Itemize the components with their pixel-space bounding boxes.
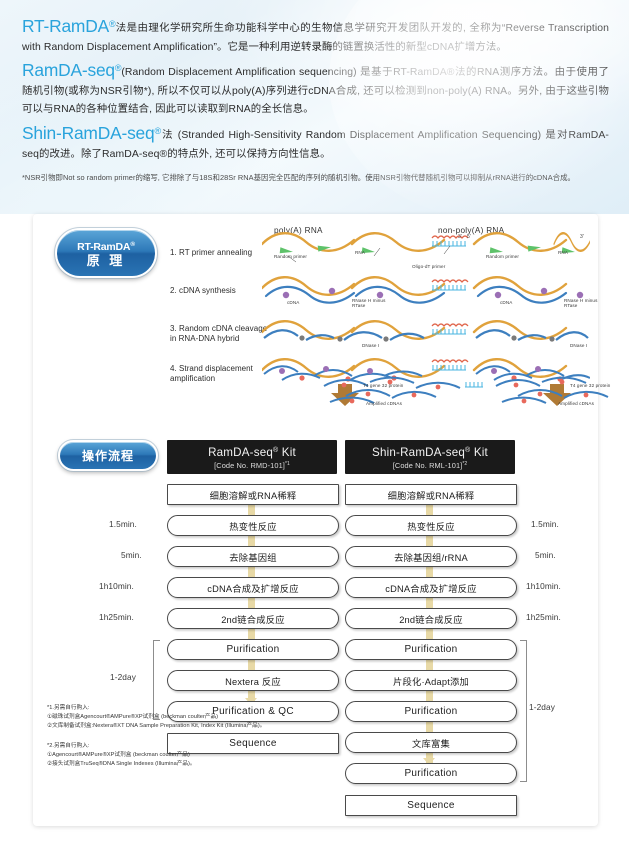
caption-random-primer-left: Random primer [274, 254, 307, 259]
time-label-right-3: 1h10min. [526, 581, 561, 591]
footnote-2-item-2: ②接头试剂盒TruSeq®DNA Single Indexes (Illumin… [47, 760, 196, 769]
flow-left-node-5[interactable]: 2nd链合成反应 [167, 608, 339, 629]
caption-amplified-left: Amplified cDNAs [366, 401, 402, 406]
flow-right-node-3[interactable]: 去除基因组/rRNA [345, 546, 517, 567]
kit-header-shin-code: [Code No. RML-101]*2 [393, 460, 468, 470]
connector-spine-right [426, 498, 433, 764]
diagram-step-1: 1. RT primer annealing [170, 248, 252, 258]
intro-footnote-nsr: *NSR引物即Not so random primer的缩写, 它排除了与18S… [22, 172, 609, 183]
footnote-2-header: *2.另需自行购入: [47, 742, 89, 751]
footnote-1-item-1: ①磁珠试剂盒Agencourt®AMPure®XP试剂盒 (beckman co… [47, 713, 218, 722]
svg-text:3': 3' [580, 234, 584, 240]
svg-text:5': 5' [467, 234, 471, 240]
badge-principle-line1: RT-RamDA® [77, 239, 135, 253]
kit-header-ramda: RamDA-seq® Kit [Code No. RMD-101]*1 [167, 440, 337, 474]
kit-header-shin-title: Shin-RamDA-seq® Kit [372, 444, 488, 460]
time-label-left-1: 1.5min. [109, 519, 137, 529]
diagram-step-4-line2: amplification [170, 374, 215, 384]
diagram-step-3-line1: 3. Random cDNA cleavage [170, 324, 267, 334]
time-label-left-4: 1h25min. [99, 612, 134, 622]
flow-right-node-5[interactable]: 2nd链合成反应 [345, 608, 517, 629]
badge-principle: RT-RamDA® 原 理 [55, 228, 157, 278]
flow-left-node-3[interactable]: 去除基因组 [167, 546, 339, 567]
term-rt-ramda: RT-RamDA® [22, 16, 115, 36]
caption-dnase-right: DNase I [570, 343, 587, 348]
caption-t4-left: T4 gene 32 protein [363, 383, 403, 388]
caption-t4-right: T4 gene 32 protein [570, 383, 610, 388]
principle-diagram: poly(A) RNA non-poly(A) RNA 1. RT primer… [170, 228, 590, 408]
flow-left-node-4[interactable]: cDNA合成及扩增反应 [167, 577, 339, 598]
time-label-left-5: 1-2day [110, 672, 136, 682]
kit-header-shin-ramda: Shin-RamDA-seq® Kit [Code No. RML-101]*2 [345, 440, 515, 474]
kit-header-ramda-title: RamDA-seq® Kit [208, 444, 296, 460]
flow-right-node-1[interactable]: 细胞溶解或RNA稀释 [345, 484, 517, 505]
footnote-1-header: *1.另需自行购入: [47, 704, 89, 713]
caption-amplified-right: Amplified cDNAs [558, 401, 594, 406]
flow-right-node-7[interactable]: 片段化·Adapt添加 [345, 670, 517, 691]
intro-paragraph-2: RamDA-seq®(Random Displacement Amplifica… [22, 60, 609, 120]
flow-right-node-8[interactable]: Purification [345, 701, 517, 722]
flow-right-node-2[interactable]: 热变性反应 [345, 515, 517, 536]
svg-text:3': 3' [458, 234, 462, 240]
bracket-left-group [153, 640, 160, 720]
caption-rnaseh-left-2: RTase [352, 303, 365, 308]
kit-header-ramda-code: [Code No. RMD-101]*1 [214, 460, 290, 470]
caption-cdna-right: cDNA [500, 300, 512, 305]
caption-rnaseh-right-2: RTase [564, 303, 577, 308]
time-label-right-1: 1.5min. [531, 519, 559, 529]
diagram-step-2: 2. cDNA synthesis [170, 286, 236, 296]
footnote-1-item-2: ②文库制备试剂盒:Nextera®XT DNA Sample Preparati… [47, 722, 265, 731]
caption-cdna-left: cDNA [287, 300, 299, 305]
caption-rna-left: RNA [355, 250, 365, 255]
footnote-2-item-1: ①Agencourt®AMPure®XP试剂盒 (beckman coulter… [47, 751, 190, 760]
flow-right-node-10[interactable]: Purification [345, 763, 517, 784]
time-label-left-2: 5min. [121, 550, 142, 560]
diagram-step-3-line2: in RNA-DNA hybrid [170, 334, 239, 344]
badge-principle-line2: 原 理 [87, 253, 126, 268]
flow-right-node-9[interactable]: 文库富集 [345, 732, 517, 753]
term-shin-ramda-seq: Shin-RamDA-seq® [22, 123, 161, 143]
time-label-left-3: 1h10min. [99, 581, 134, 591]
diagram-step-4-line1: 4. Strand displacement [170, 364, 253, 374]
time-label-right-5: 1-2day [529, 702, 555, 712]
flow-right-node-6[interactable]: Purification [345, 639, 517, 660]
bracket-right-group [520, 640, 527, 782]
flow-left-node-1[interactable]: 细胞溶解或RNA稀释 [167, 484, 339, 505]
term-ramda-seq: RamDA-seq® [22, 60, 121, 80]
caption-rna-right: RNA [558, 250, 568, 255]
flow-left-node-7[interactable]: Nextera 反应 [167, 670, 339, 691]
flow-right-node-11[interactable]: Sequence [345, 795, 517, 816]
time-label-right-4: 1h25min. [526, 612, 561, 622]
intro-paragraph-3: Shin-RamDA-seq®法 (Stranded High-Sensitiv… [22, 123, 609, 164]
intro-band: RT-RamDA®法是由理化学研究所生命功能科学中心的生物信息学研究开发团队开发… [0, 0, 629, 214]
caption-random-primer-right: Random primer [486, 254, 519, 259]
caption-dnase-left: DNase I [362, 343, 379, 348]
flow-left-node-2[interactable]: 热变性反应 [167, 515, 339, 536]
caption-oligo-dt-primer: Oligo-dT primer [412, 264, 445, 269]
flow-left-node-6[interactable]: Purification [167, 639, 339, 660]
flow-left-node-9[interactable]: Sequence [167, 733, 339, 754]
time-label-right-2: 5min. [535, 550, 556, 560]
intro-paragraph-1: RT-RamDA®法是由理化学研究所生命功能科学中心的生物信息学研究开发团队开发… [22, 16, 609, 57]
flow-right-node-4[interactable]: cDNA合成及扩增反应 [345, 577, 517, 598]
poster-page: RT-RamDA®法是由理化学研究所生命功能科学中心的生物信息学研究开发团队开发… [0, 0, 629, 843]
